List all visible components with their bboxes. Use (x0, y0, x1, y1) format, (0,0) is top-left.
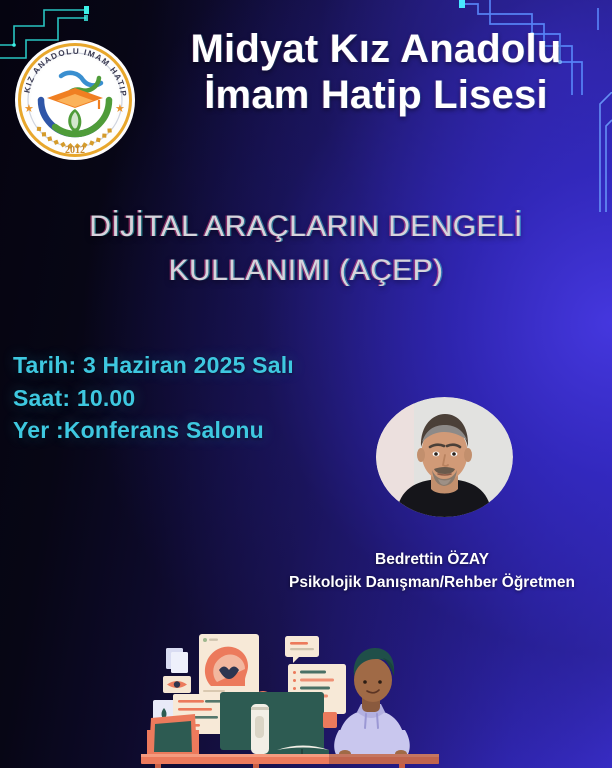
poster-canvas: MIDYAT KIZ ANADOLU IMAM HATIP LISESI ◆◆◆… (0, 0, 612, 768)
page-title: Midyat Kız Anadolu İmam Hatip Lisesi (150, 26, 602, 118)
speaker-portrait-avatar (376, 397, 513, 517)
program-title: DİJİTAL ARAÇLARIN DENGELİ KULLANIMI (AÇE… (0, 205, 612, 292)
document-stack-icon (166, 648, 188, 673)
eye-icon (163, 676, 191, 693)
seal-year: 2012 (65, 145, 85, 156)
event-details: Tarih: 3 Haziran 2025 Salı Saat: 10.00 Y… (13, 349, 294, 447)
event-place: Yer :Konferans Salonu (13, 414, 294, 447)
event-date: Tarih: 3 Haziran 2025 Salı (13, 349, 294, 382)
speaker-name: Bedrettin ÖZAY (252, 548, 612, 571)
header-title-line1: Midyat Kız Anadolu (150, 26, 602, 72)
school-seal-logo: MIDYAT KIZ ANADOLU IMAM HATIP LISESI ◆◆◆… (11, 26, 139, 166)
tablet-icon (147, 714, 199, 756)
monitor-icon (220, 692, 324, 754)
header-title-line2: İmam Hatip Lisesi (150, 72, 602, 118)
student-at-desk-illustration (133, 612, 448, 768)
speaker-title: Psikolojik Danışman/Rehber Öğretmen (252, 571, 612, 594)
program-title-line1: DİJİTAL ARAÇLARIN DENGELİ (0, 205, 612, 249)
chat-bubble-icon (285, 636, 319, 663)
speaker-caption: Bedrettin ÖZAY Psikolojik Danışman/Rehbe… (252, 548, 612, 595)
cup-icon (323, 712, 337, 728)
event-time: Saat: 10.00 (13, 382, 294, 415)
seal-star-left-icon: ★ (24, 103, 34, 115)
head-brain-card (199, 634, 259, 696)
water-bottle-icon (251, 698, 269, 754)
seal-star-right-icon: ★ (115, 103, 125, 115)
desk (141, 754, 439, 768)
program-title-line2: KULLANIMI (AÇEP) (0, 249, 612, 293)
